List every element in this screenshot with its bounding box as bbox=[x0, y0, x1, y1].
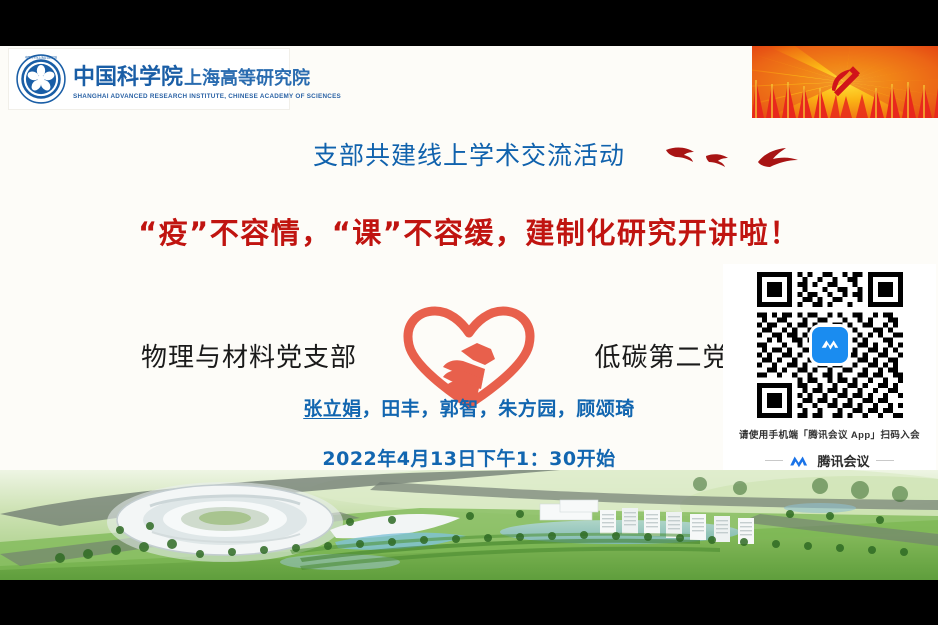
hammer-and-sickle-icon bbox=[825, 61, 865, 101]
heart-handshake-icon bbox=[399, 303, 539, 407]
institute-subname-cn: 上海高等研究院 bbox=[184, 64, 310, 90]
qr-caption: 请使用手机端「腾讯会议 App」扫码入会 bbox=[739, 427, 920, 441]
tencent-meeting-logo-icon bbox=[789, 453, 811, 469]
qr-brand-row: 腾讯会议 bbox=[765, 451, 893, 470]
svg-text:中国科学院上海高等研究院: 中国科学院上海高等研究院 bbox=[25, 56, 58, 60]
institute-logo-text: 中国科学院上海高等研究院 SHANGHAI ADVANCED RESEARCH … bbox=[73, 59, 336, 100]
event-headline: “疫”不容情，“课”不容缓，建制化研究开讲啦！ bbox=[0, 210, 938, 252]
campus-aerial-rendering bbox=[0, 470, 938, 580]
poster-root: 中国科学院上海高等研究院 中国科学院上海高等研究院 SHANGHAI ADVAN… bbox=[0, 0, 938, 625]
brand-dash-left bbox=[765, 460, 783, 461]
event-subtitle: 支部共建线上学术交流活动 bbox=[0, 136, 938, 172]
tencent-meeting-qr-card[interactable]: 请使用手机端「腾讯会议 App」扫码入会 腾讯会议 bbox=[723, 264, 936, 477]
brand-dash-right bbox=[876, 460, 894, 461]
tencent-meeting-icon bbox=[812, 327, 848, 363]
institute-logo: 中国科学院上海高等研究院 中国科学院上海高等研究院 SHANGHAI ADVAN… bbox=[8, 48, 290, 110]
branch-left-label: 物理与材料党支部 bbox=[99, 337, 399, 374]
slide-canvas: 中国科学院上海高等研究院 中国科学院上海高等研究院 SHANGHAI ADVAN… bbox=[0, 46, 938, 580]
cpc-emblem-banner bbox=[752, 46, 938, 118]
cas-sari-emblem-icon: 中国科学院上海高等研究院 bbox=[15, 53, 67, 105]
speaker-others: ，田丰，郭智，朱方园，顾颂琦 bbox=[362, 398, 635, 420]
institute-name-cn: 中国科学院 bbox=[73, 59, 183, 91]
institute-name-en: SHANGHAI ADVANCED RESEARCH INSTITUTE, CH… bbox=[73, 93, 341, 100]
tencent-meeting-qr[interactable] bbox=[757, 272, 903, 418]
speaker-highlighted: 张立娟 bbox=[303, 398, 362, 420]
qr-brand-label: 腾讯会议 bbox=[817, 451, 869, 470]
